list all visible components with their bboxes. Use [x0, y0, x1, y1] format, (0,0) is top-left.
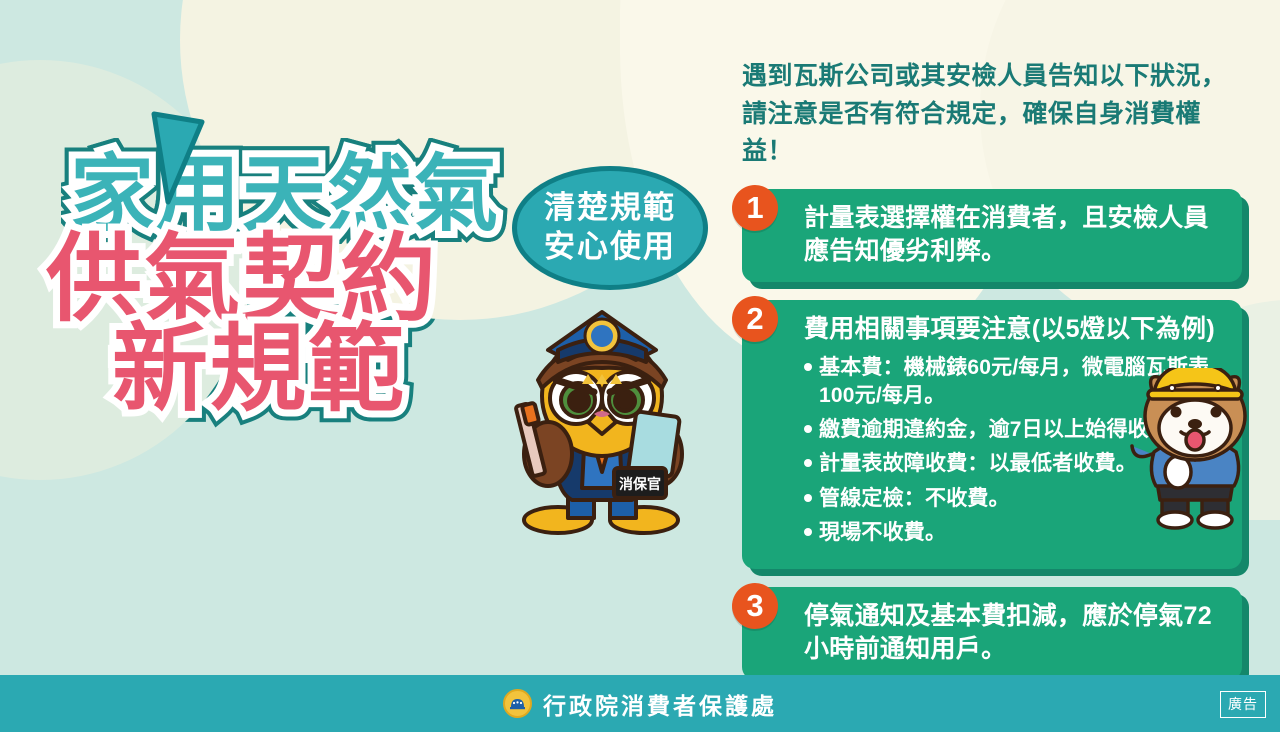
bullet-dot-icon — [804, 528, 812, 536]
title-line-3: 新規範 — [112, 322, 546, 418]
poster-title: 家用天然氣 供氣契約 新規範 — [46, 152, 546, 418]
speech-bubble-tail — [124, 104, 214, 214]
card-number-badge-1: 1 — [732, 185, 778, 231]
bullet-dot-icon — [804, 363, 812, 371]
bubble-line-1: 清楚規範 — [544, 190, 676, 227]
card-text-1: 計量表選擇權在消費者，且安檢人員應告知優劣利弊。 — [804, 202, 1226, 268]
speech-bubble: 清楚規範 安心使用 — [512, 166, 708, 290]
info-card-1: 1 計量表選擇權在消費者，且安檢人員應告知優劣利弊。 — [742, 189, 1242, 282]
owl-mascot-consumer-officer: 消保官 — [486, 288, 716, 538]
dog-mascot-inspector — [1128, 368, 1280, 530]
ad-badge: 廣告 — [1220, 691, 1266, 718]
info-card-3: 3 停氣通知及基本費扣減，應於停氣72小時前通知用戶。 — [742, 587, 1242, 680]
intro-paragraph: 遇到瓦斯公司或其安檢人員告知以下狀況，請注意是否有符合規定，確保自身消費權益！ — [742, 58, 1242, 171]
card-heading-2: 費用相關事項要注意(以5燈以下為例) — [804, 313, 1226, 346]
card-wrapper-1: 1 計量表選擇權在消費者，且安檢人員應告知優劣利弊。 — [742, 189, 1242, 282]
bullet-dot-icon — [804, 425, 812, 433]
card-wrapper-3: 3 停氣通知及基本費扣減，應於停氣72小時前通知用戶。 — [742, 587, 1242, 680]
title-line-2: 供氣契約 — [46, 232, 546, 328]
footer-bar: 行政院消費者保護處 廣告 — [0, 675, 1280, 732]
svg-text:消保官: 消保官 — [619, 476, 661, 492]
bullet-dot-icon — [804, 494, 812, 502]
executive-yuan-emblem-icon — [503, 689, 532, 718]
footer-agency-name: 行政院消費者保護處 — [543, 687, 777, 721]
bubble-line-2: 安心使用 — [544, 229, 676, 266]
footer-agency-block: 行政院消費者保護處 — [503, 687, 777, 721]
card-number-badge-2: 2 — [732, 296, 778, 342]
card-text-3: 停氣通知及基本費扣減，應於停氣72小時前通知用戶。 — [804, 600, 1226, 666]
bullet-dot-icon — [804, 459, 812, 467]
card-number-badge-3: 3 — [732, 583, 778, 629]
